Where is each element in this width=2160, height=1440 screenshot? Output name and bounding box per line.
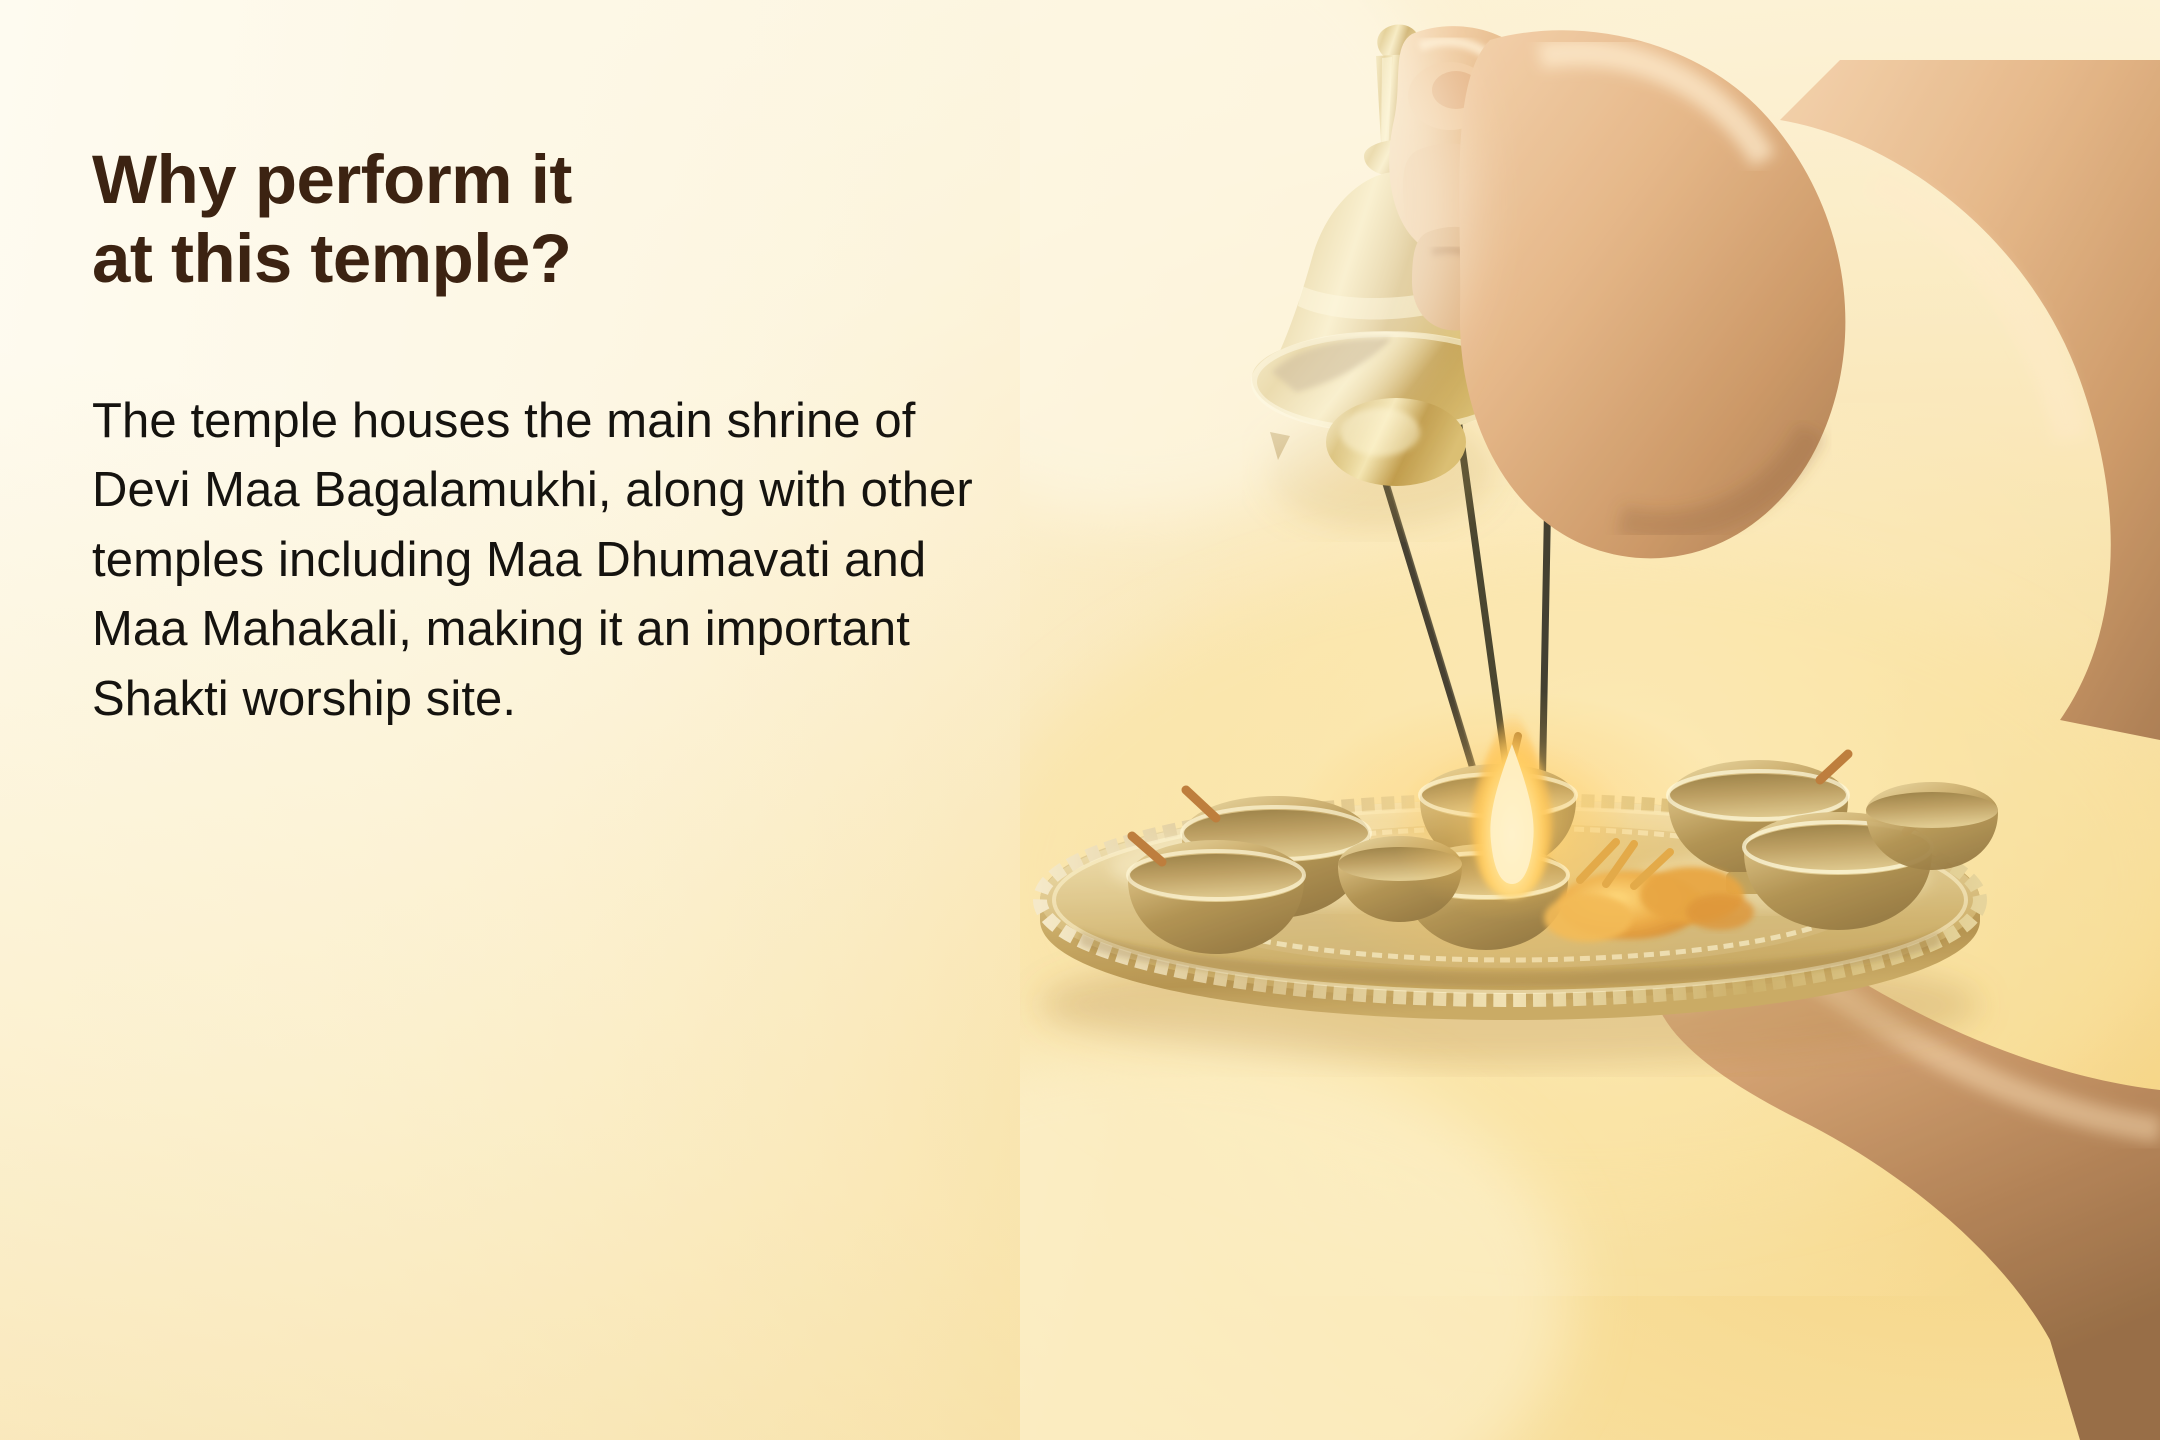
puja-photo — [1020, 0, 2160, 1440]
text-column: Why perform it at this temple? The templ… — [92, 140, 1092, 735]
slide-canvas: Why perform it at this temple? The templ… — [0, 0, 2160, 1440]
body-paragraph: The temple houses the main shrine of Dev… — [92, 387, 1022, 735]
page-title: Why perform it at this temple? — [92, 140, 1092, 299]
